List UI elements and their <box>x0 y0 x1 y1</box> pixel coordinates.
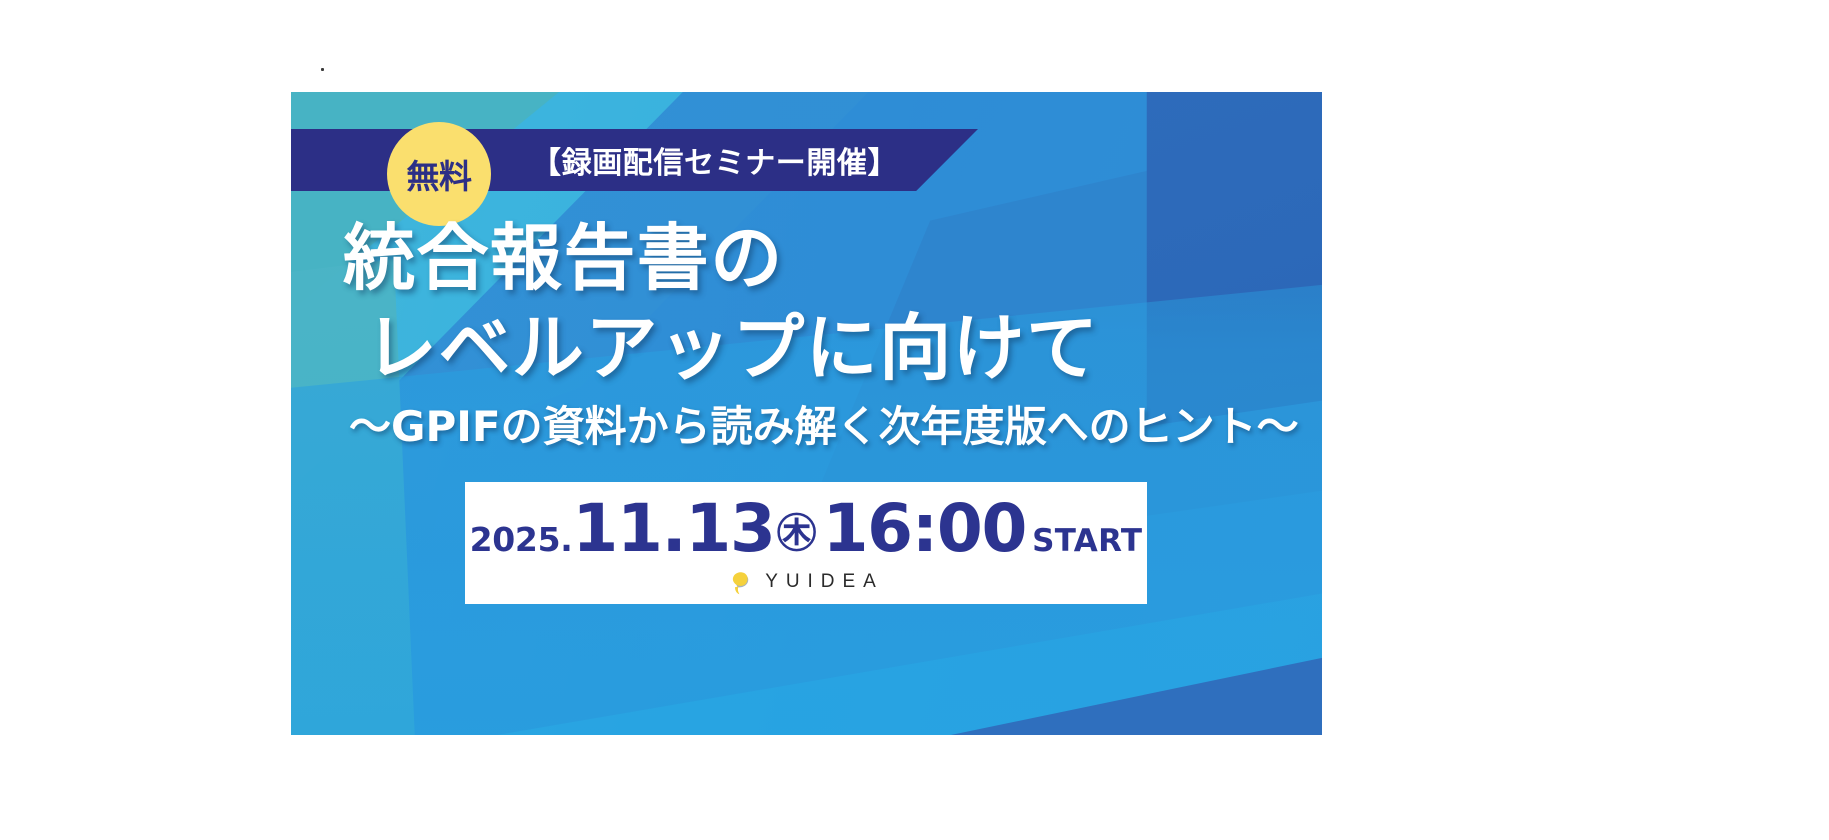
event-date-card: 2025. 11.13 ㊍ 16:00 START YUIDEA <box>465 482 1147 604</box>
headline-line-2: レベルアップに向けて <box>291 310 1322 388</box>
headline-block: 統合報告書の レベルアップに向けて ～GPIFの資料から読み解く次年度版へのヒン… <box>291 220 1322 450</box>
event-date: 11.13 <box>572 496 774 562</box>
seminar-banner: 【録画配信セミナー開催】 無料 統合報告書の レベルアップに向けて ～GPIFの… <box>291 92 1322 735</box>
yuidea-leaf-mark-icon <box>728 568 756 596</box>
event-time: 16:00 <box>823 496 1027 562</box>
yuidea-logo: YUIDEA <box>728 568 884 596</box>
free-badge-label: 無料 <box>406 150 471 198</box>
headline-subtitle: ～GPIFの資料から読み解く次年度版へのヒント～ <box>291 404 1322 450</box>
event-year: 2025. <box>470 520 573 559</box>
event-day-of-week: ㊍ <box>777 514 817 554</box>
stray-dot <box>321 68 324 71</box>
free-badge: 無料 <box>387 122 491 226</box>
ribbon-label: 【録画配信セミナー開催】 <box>531 138 898 182</box>
event-date-row: 2025. 11.13 ㊍ 16:00 START <box>470 496 1143 562</box>
event-start-label: START <box>1032 523 1142 559</box>
yuidea-wordmark: YUIDEA <box>765 571 884 593</box>
headline-line-1: 統合報告書の <box>291 220 1322 298</box>
